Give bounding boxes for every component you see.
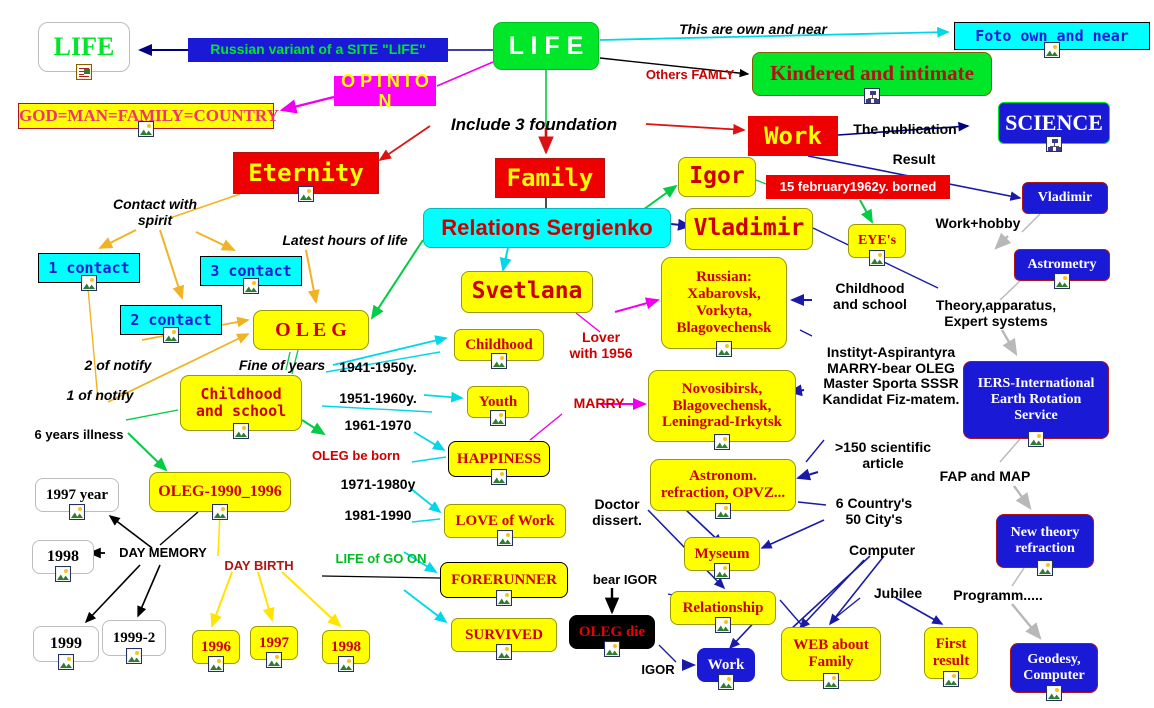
node-label: Svetlana <box>462 279 592 305</box>
photo-icon[interactable] <box>243 278 259 294</box>
node-label: 1999-2 <box>103 630 165 647</box>
sitemap-icon[interactable] <box>1046 136 1062 152</box>
node-label: Myseum <box>685 546 759 563</box>
node-borned[interactable]: 15 february1962y. borned <box>766 175 950 199</box>
photo-icon[interactable] <box>298 186 314 202</box>
label-lbl-6country: 6 Country's 50 City's <box>828 496 920 527</box>
node-label: Geodesy, Computer <box>1011 652 1097 683</box>
photo-icon[interactable] <box>869 250 885 266</box>
node-label: 1998 <box>33 548 93 566</box>
node-family-red[interactable]: Family <box>495 158 605 198</box>
node-label: Igor <box>679 164 755 190</box>
node-iers[interactable]: IERS-International Earth Rotation Servic… <box>963 361 1109 439</box>
node-opinion[interactable]: O P I N I O N <box>334 76 436 106</box>
node-label: 1998 <box>323 639 369 656</box>
node-label: 3 contact <box>201 263 301 280</box>
photo-icon[interactable] <box>1044 42 1060 58</box>
node-oleg[interactable]: O L E G <box>253 310 369 350</box>
node-label: Novosibirsk, Blagovechensk, Leningrad-Ir… <box>649 381 795 431</box>
photo-icon[interactable] <box>266 652 282 668</box>
node-label: IERS-International Earth Rotation Servic… <box>964 376 1108 423</box>
node-russian-variant[interactable]: Russian variant of a SITE "LIFE" <box>188 38 448 62</box>
node-russian-cities[interactable]: Russian: Xabarovsk, Vorkyta, Blagovechen… <box>661 257 787 349</box>
node-label: First result <box>925 636 977 670</box>
photo-icon[interactable] <box>491 469 507 485</box>
photo-icon[interactable] <box>126 648 142 664</box>
photo-icon[interactable] <box>714 563 730 579</box>
photo-icon[interactable] <box>490 410 506 426</box>
node-label: HAPPINESS <box>449 451 549 468</box>
label-lbl-1941: 1941-1950y. <box>330 360 426 376</box>
node-label: SCIENCE <box>999 111 1109 136</box>
label-lbl-instityt: Instityt-Aspirantyra MARRY-bear OLEG Mas… <box>808 345 974 408</box>
label-lbl-bear-igor: bear IGOR <box>581 573 669 588</box>
photo-icon[interactable] <box>58 654 74 670</box>
node-label: O L E G <box>254 319 368 341</box>
node-label: EYE's <box>849 233 905 249</box>
node-label: Vladimir <box>1023 190 1107 206</box>
label-lbl-1-notify: 1 of notify <box>55 388 145 404</box>
node-label: Youth <box>468 394 528 411</box>
photo-icon[interactable] <box>1046 685 1062 701</box>
label-lbl-result: Result <box>884 152 944 168</box>
photo-icon[interactable] <box>714 434 730 450</box>
node-label: Relationship <box>671 600 775 617</box>
photo-icon[interactable] <box>1054 273 1070 289</box>
photo-icon[interactable] <box>823 673 839 689</box>
label-lbl-oleg-born: OLEG be born <box>300 449 412 464</box>
node-label: Astrometry <box>1015 257 1109 273</box>
photo-icon[interactable] <box>496 644 512 660</box>
label-lbl-day-birth: DAY BIRTH <box>212 559 306 574</box>
photo-icon[interactable] <box>715 503 731 519</box>
node-label: WEB about Family <box>782 637 880 671</box>
label-lbl-day-memory: DAY MEMORY <box>108 546 218 561</box>
node-label: Family <box>496 165 604 192</box>
node-label: Relations Sergienko <box>424 216 670 241</box>
label-lbl-6yr-illness: 6 years illness <box>26 428 132 443</box>
label-lbl-childhood-sch: Childhood and school <box>822 281 918 312</box>
node-label: LOVE of Work <box>445 513 565 530</box>
photo-icon[interactable] <box>604 641 620 657</box>
node-label: OLEG-1990_1996 <box>150 483 290 501</box>
node-novosibirsk[interactable]: Novosibirsk, Blagovechensk, Leningrad-Ir… <box>648 370 796 442</box>
label-lbl-marry: MARRY <box>564 396 634 412</box>
photo-icon[interactable] <box>338 656 354 672</box>
label-lbl-work-hobby: Work+hobby <box>928 216 1028 232</box>
label-lbl-others-family: Others FAMLY <box>630 68 750 83</box>
label-lbl-contact-spirit: Contact with spirit <box>102 197 208 228</box>
node-label: SURVIVED <box>452 627 556 644</box>
label-lbl-doctor: Doctor dissert. <box>581 497 653 528</box>
node-svetlana[interactable]: Svetlana <box>461 271 593 313</box>
label-lbl-include-3: Include 3 foundation <box>428 115 640 134</box>
photo-icon[interactable] <box>69 504 85 520</box>
photo-icon[interactable] <box>212 504 228 520</box>
photo-icon[interactable] <box>1028 431 1044 447</box>
node-label: Russian: Xabarovsk, Vorkyta, Blagovechen… <box>662 269 786 336</box>
label-lbl-igor-arrow: IGOR <box>634 663 682 678</box>
node-relations[interactable]: Relations Sergienko <box>423 208 671 248</box>
node-label: FORERUNNER <box>441 572 567 589</box>
label-lbl-1981: 1981-1990 <box>330 508 426 524</box>
node-label: 1999 <box>34 635 98 653</box>
node-label: Astronom. refraction, OPVZ... <box>651 468 795 502</box>
node-label: L I F E <box>494 32 598 60</box>
label-lbl-theory-app: Theory,apparatus, Expert systems <box>928 298 1064 329</box>
node-label: 2 contact <box>121 312 221 329</box>
node-label: Work <box>749 123 837 150</box>
node-label: 15 february1962y. borned <box>767 180 949 195</box>
photo-icon[interactable] <box>233 423 249 439</box>
node-label: 1997 year <box>36 487 118 504</box>
node-label: Childhood and school <box>181 386 301 420</box>
node-life-green[interactable]: L I F E <box>493 22 599 70</box>
photo-icon[interactable] <box>716 341 732 357</box>
photo-icon[interactable] <box>943 671 959 687</box>
mindmap-canvas: LIFERussian variant of a SITE "LIFE"L I … <box>0 0 1154 708</box>
node-label: Vladimir <box>686 216 812 242</box>
node-label: OLEG die <box>570 624 654 641</box>
label-lbl-1961: 1961-1970 <box>330 418 426 434</box>
label-lbl-fap-map: FAP and MAP <box>932 469 1038 485</box>
label-lbl-latest-hours: Latest hours of life <box>270 233 420 249</box>
node-label: 1997 <box>251 635 297 652</box>
photo-icon[interactable] <box>163 327 179 343</box>
node-vladimir-yellow[interactable]: Vladimir <box>685 208 813 250</box>
node-label: LIFE <box>39 32 129 61</box>
label-lbl-fine-years: Fine of years <box>230 358 334 374</box>
node-label: O P I N I O N <box>335 71 435 111</box>
label-lbl-programm: Programm..... <box>940 588 1056 604</box>
photo-icon[interactable] <box>496 590 512 606</box>
photo-icon[interactable] <box>138 121 154 137</box>
photo-icon[interactable] <box>491 353 507 369</box>
photo-icon[interactable] <box>497 530 513 546</box>
label-lbl-publication: The publication <box>845 122 965 138</box>
label-lbl-150-sci: >150 scientific article <box>828 440 938 471</box>
label-lbl-this-are-own: This are own and near <box>668 22 838 38</box>
sitemap-icon[interactable] <box>864 88 880 104</box>
photo-icon[interactable] <box>1037 560 1053 576</box>
photo-icon[interactable] <box>718 674 734 690</box>
photo-icon[interactable] <box>208 656 224 672</box>
photo-icon[interactable] <box>715 617 731 633</box>
node-label: Kindered and intimate <box>753 62 991 86</box>
node-label: Work <box>698 657 754 674</box>
photo-icon[interactable] <box>81 275 97 291</box>
label-lbl-1971: 1971-1980y <box>330 477 426 493</box>
label-lbl-lover: Lover with 1956 <box>561 330 641 361</box>
node-label: 1996 <box>193 639 239 656</box>
node-label: Russian variant of a SITE "LIFE" <box>189 42 447 58</box>
node-label: Childhood <box>455 337 543 354</box>
document-icon[interactable] <box>76 64 92 80</box>
photo-icon[interactable] <box>55 566 71 582</box>
node-label: Eternity <box>234 160 378 187</box>
label-lbl-computer: Computer <box>840 543 924 559</box>
node-igor[interactable]: Igor <box>678 157 756 197</box>
label-lbl-jubilee: Jubilee <box>866 586 930 602</box>
label-lbl-life-go-on: LIFE of GO ON <box>322 552 440 567</box>
node-vladimir-blue[interactable]: Vladimir <box>1022 182 1108 214</box>
node-label: 1 contact <box>39 260 139 277</box>
label-lbl-2-notify: 2 of notify <box>73 358 163 374</box>
label-lbl-1951: 1951-1960y. <box>330 391 426 407</box>
node-work-red[interactable]: Work <box>748 116 838 156</box>
node-label: New theory refraction <box>997 525 1093 556</box>
